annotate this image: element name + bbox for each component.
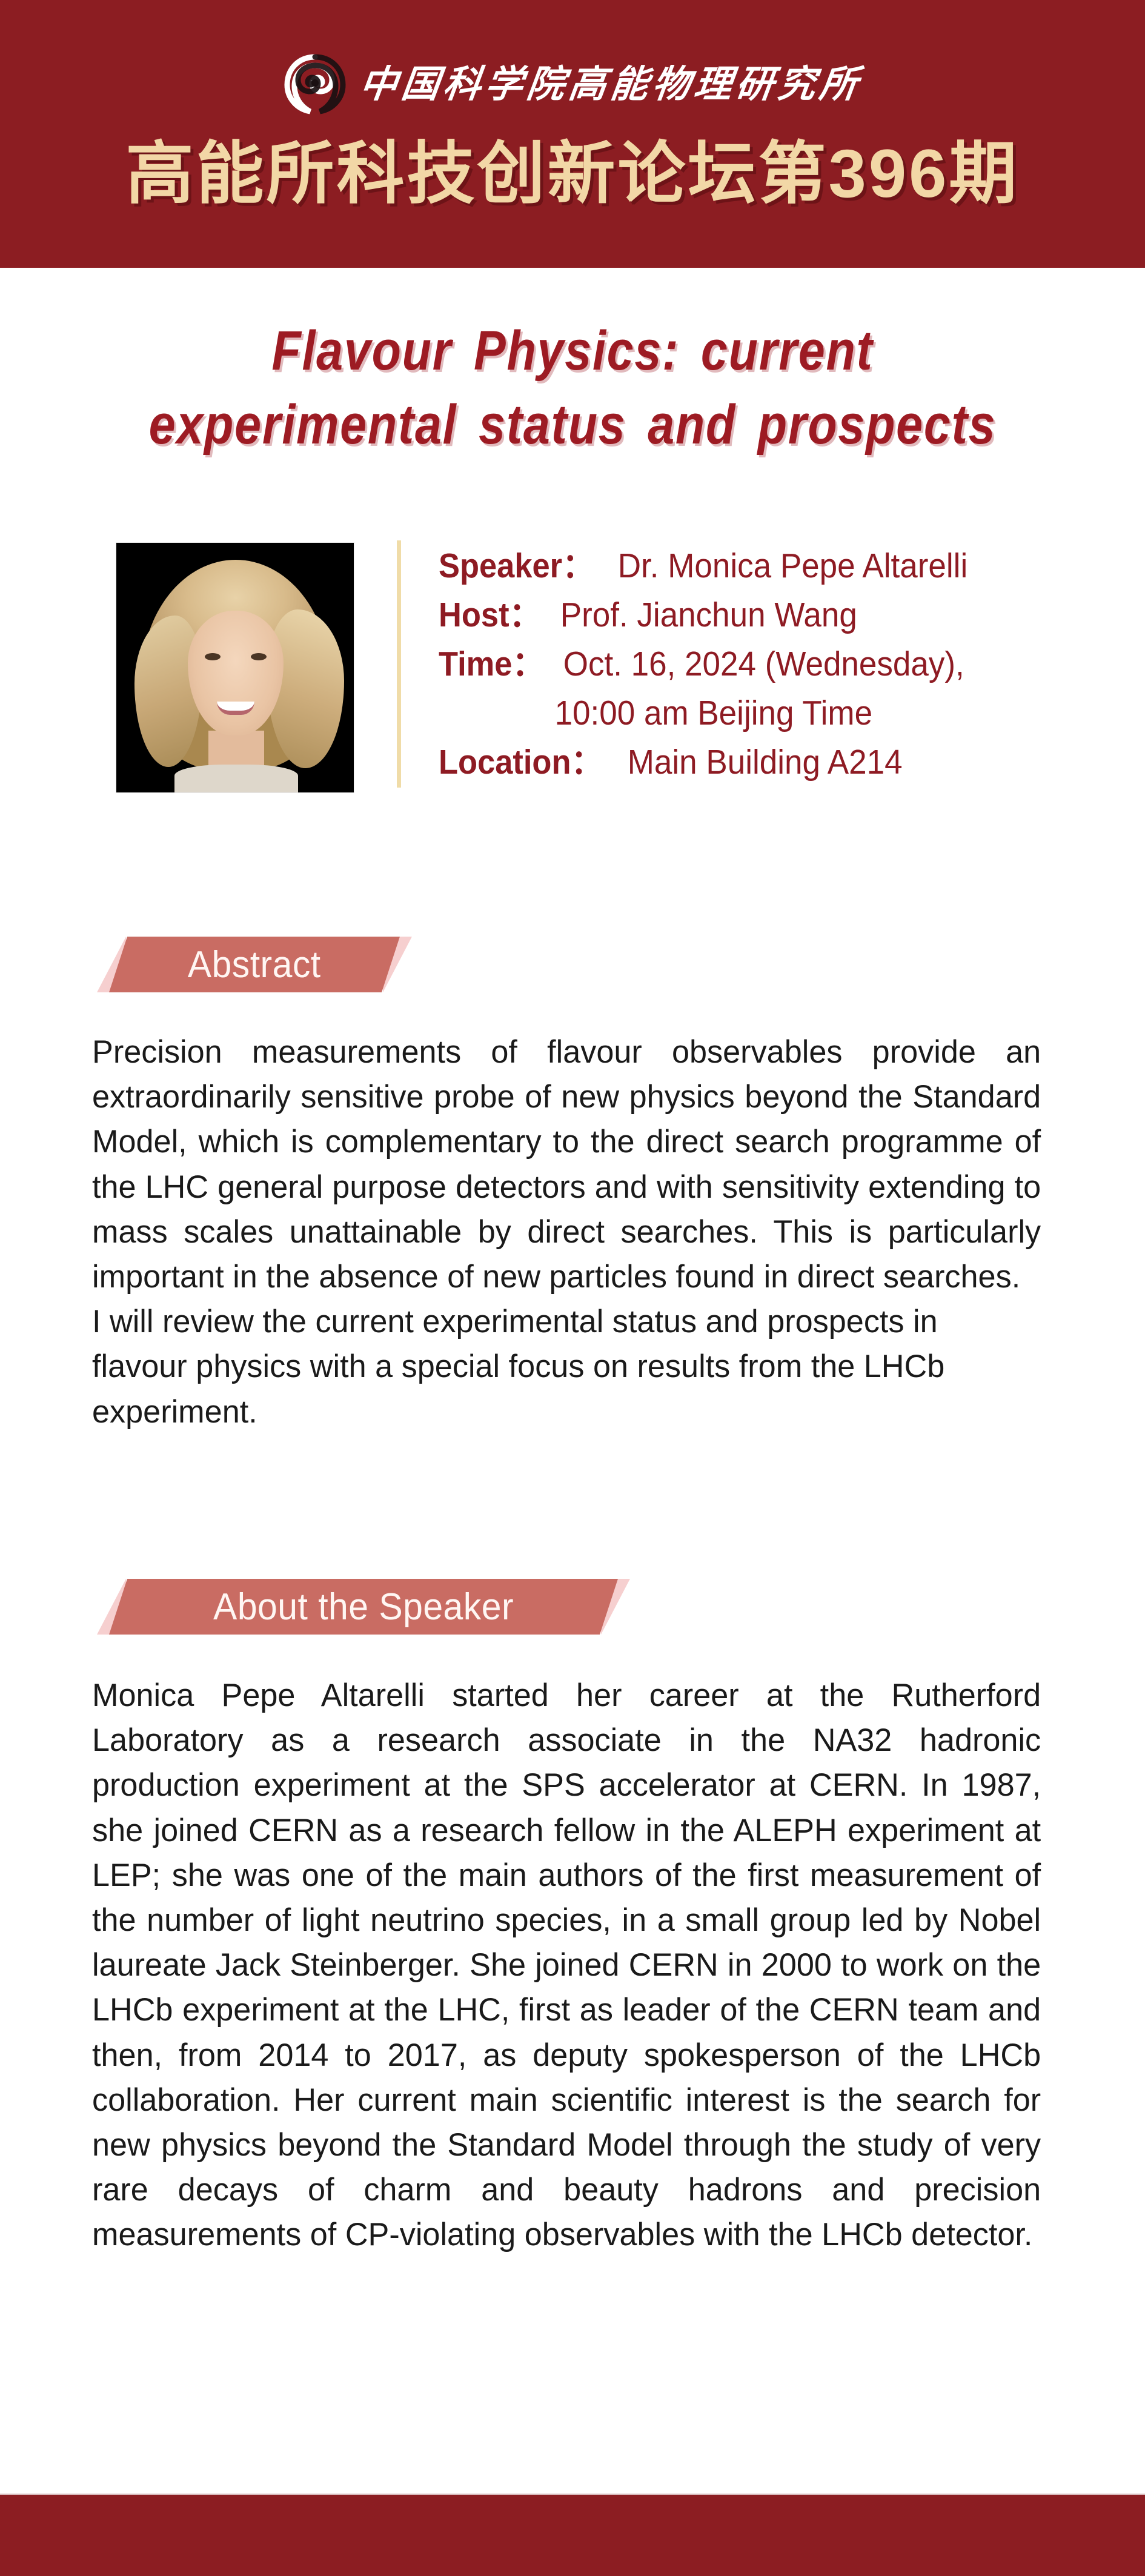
location-label: Location： [439,738,603,787]
host-value: Prof. Jianchun Wang [550,591,857,640]
abstract-body: Precision measurements of flavour observ… [92,1030,1041,1435]
time-label: Time： [439,640,544,689]
vertical-divider [397,540,401,788]
ribbon-body: Abstract [109,937,400,992]
speaker-details-block: Speaker： Dr. Monica Pepe Altarelli Host：… [0,538,1145,792]
talk-title-line-2: experimental status and prospects [130,388,1015,462]
info-row-host: Host： Prof. Jianchun Wang [439,591,1105,640]
host-label: Host： [439,591,541,640]
info-row-time: Time： Oct. 16, 2024 (Wednesday), [439,640,1105,689]
poster-footer [0,2495,1145,2576]
seminar-poster: 中国科学院高能物理研究所 高能所科技创新论坛第396期 Flavour Phys… [0,0,1145,2576]
section-ribbon-abstract: Abstract [97,937,412,992]
speaker-value: Dr. Monica Pepe Altarelli [608,542,967,591]
ihep-spiral-logo-icon [284,53,347,116]
talk-title: Flavour Physics: current experimental st… [130,314,1015,462]
portrait-eye-right-icon [251,653,267,660]
poster-header: 中国科学院高能物理研究所 高能所科技创新论坛第396期 [0,0,1145,268]
time-value-continued: 10:00 am Beijing Time [439,689,872,738]
institute-logo-row: 中国科学院高能物理研究所 [0,48,1145,121]
location-value: Main Building A214 [617,738,903,787]
info-row-time-continued: 10:00 am Beijing Time [439,689,1105,738]
abstract-paragraph-1: Precision measurements of flavour observ… [92,1030,1041,1300]
talk-title-line-1: Flavour Physics: current [130,314,1015,388]
about-speaker-body: Monica Pepe Altarelli started her career… [92,1673,1041,2257]
portrait-eye-left-icon [205,653,221,660]
info-row-location: Location： Main Building A214 [439,738,1105,787]
time-value: Oct. 16, 2024 (Wednesday), [553,640,964,689]
abstract-paragraph-2: I will review the current experimental s… [92,1300,1041,1435]
ribbon-label-about-speaker: About the Speaker [213,1585,514,1628]
ribbon-label-abstract: Abstract [188,943,321,986]
bio-paragraph-1: Monica Pepe Altarelli started her career… [92,1673,1041,2257]
section-ribbon-about-speaker: About the Speaker [97,1579,630,1635]
ribbon-body: About the Speaker [109,1579,618,1635]
forum-issue-title: 高能所科技创新论坛第396期 [0,138,1145,210]
institute-logo-text: 中国科学院高能物理研究所 [357,66,864,104]
event-info-list: Speaker： Dr. Monica Pepe Altarelli Host：… [439,542,1105,787]
speaker-portrait [116,543,354,792]
info-row-speaker: Speaker： Dr. Monica Pepe Altarelli [439,542,1105,591]
speaker-label: Speaker： [439,542,594,591]
portrait-clothing-icon [174,765,298,792]
